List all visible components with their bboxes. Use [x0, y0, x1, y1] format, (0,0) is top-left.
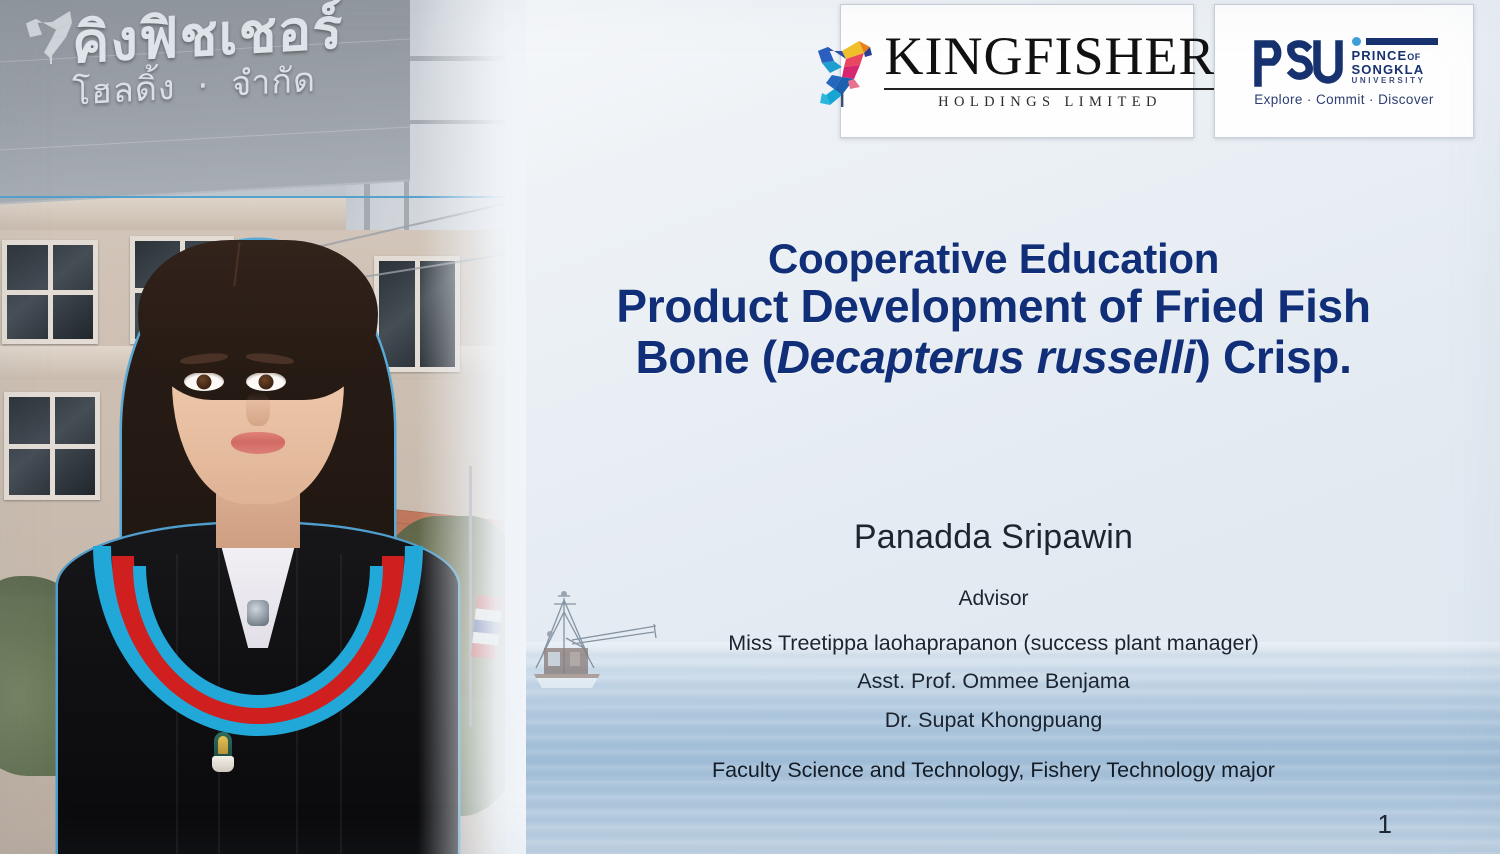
species-name: Decapterus russelli [777, 331, 1196, 383]
title-line-3: Bone (Decapterus russelli) Crisp. [505, 332, 1482, 383]
kingfisher-holdings-logo: KINGFISHER HOLDINGS LIMITED [840, 4, 1194, 138]
accent-rule [0, 196, 505, 198]
psu-monogram-icon [1251, 35, 1343, 87]
title-line-3-suffix: ) Crisp. [1195, 331, 1351, 383]
graduate-figure [58, 214, 458, 854]
figure-eye-left [184, 372, 224, 391]
figure-lash-left [183, 369, 225, 373]
title-line-1: Cooperative Education [505, 236, 1482, 281]
title-line-3-prefix: Bone ( [635, 331, 776, 383]
slide-title: Cooperative Education Product Developmen… [505, 236, 1482, 383]
figure-tie-pin [247, 600, 269, 626]
psu-logo: PRINCEOF SONGKLA UNIVERSITY Explore · Co… [1214, 4, 1474, 138]
kingfisher-wordmark: KINGFISHER [884, 31, 1215, 83]
psu-tagline: Explore · Commit · Discover [1254, 92, 1434, 107]
kingfisher-bird-icon [812, 33, 874, 109]
psu-line-2: SONGKLA [1352, 63, 1426, 77]
advisor-item: Asst. Prof. Ommee Benjama [505, 662, 1482, 700]
psu-line-1: PRINCEOF [1352, 49, 1426, 63]
photo-building-sign: คิงฟิชเชอร์ โฮลดิ้ง·จำกัด [72, 0, 343, 112]
title-line-2: Product Development of Fried Fish [505, 281, 1482, 332]
figure-eye-right [246, 372, 286, 391]
advisor-item: Dr. Supat Khongpuang [505, 701, 1482, 739]
figure-nose [246, 392, 270, 426]
advisor-item: Miss Treetippa laohaprapanon (success pl… [505, 624, 1482, 662]
figure-lash-right [245, 369, 287, 373]
figure-lips [231, 432, 285, 454]
photo-flag-pole [469, 466, 472, 726]
graduate-portrait-photo: คิงฟิชเชอร์ โฮลดิ้ง·จำกัด [0, 0, 505, 854]
presentation-slide: KINGFISHER HOLDINGS LIMITED [0, 0, 1500, 854]
kingfisher-subtitle: HOLDINGS LIMITED [884, 94, 1215, 111]
affiliation-text: Faculty Science and Technology, Fishery … [505, 758, 1482, 783]
kingfisher-rule [884, 88, 1215, 90]
advisor-heading: Advisor [505, 587, 1482, 611]
psu-dot-icon [1352, 37, 1361, 46]
figure-university-pin [212, 732, 234, 774]
psu-line-3: UNIVERSITY [1352, 77, 1426, 85]
psu-bar-icon [1366, 38, 1438, 45]
advisor-list: Miss Treetippa laohaprapanon (success pl… [505, 624, 1482, 739]
page-number: 1 [1378, 809, 1392, 840]
author-name: Panadda Sripawin [505, 518, 1482, 557]
